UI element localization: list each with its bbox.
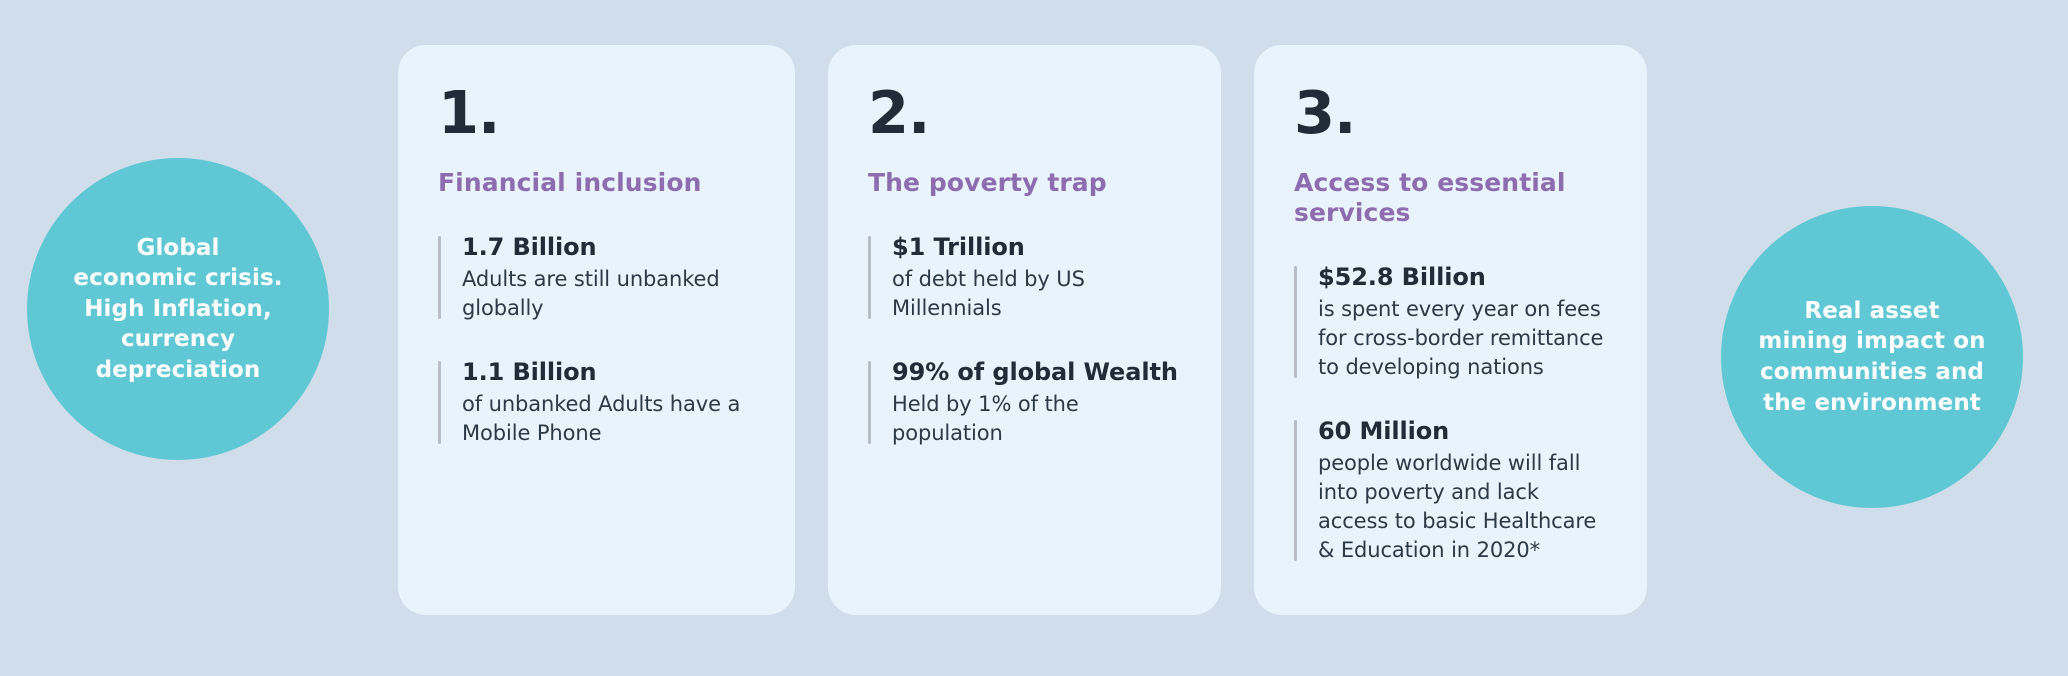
stat-description: of unbanked Adults have a Mobile Phone <box>462 390 755 448</box>
stat-value: 1.7 Billion <box>462 232 755 263</box>
stat-value: 99% of global Wealth <box>892 357 1181 388</box>
card-stats-list: 1.7 Billion Adults are still unbanked gl… <box>438 232 755 448</box>
stat-accent-rule <box>868 361 871 444</box>
left-problem-circle-text: Global economic crisis. High Inflation, … <box>53 233 303 386</box>
stat-accent-rule <box>868 236 871 319</box>
stat-description: of debt held by US Millennials <box>892 265 1181 323</box>
card-poverty-trap[interactable]: 2. The poverty trap $1 Trillion of debt … <box>828 45 1221 615</box>
card-financial-inclusion[interactable]: 1. Financial inclusion 1.7 Billion Adult… <box>398 45 795 615</box>
cards-row: 1. Financial inclusion 1.7 Billion Adult… <box>398 45 1647 615</box>
stat-description: is spent every year on fees for cross-bo… <box>1318 295 1607 382</box>
card-stats-list: $52.8 Billion is spent every year on fee… <box>1294 262 1607 565</box>
right-impact-circle: Real asset mining impact on communities … <box>1721 206 2023 508</box>
card-access-to-essential-services[interactable]: 3. Access to essential services $52.8 Bi… <box>1254 45 1647 615</box>
stat-accent-rule <box>438 361 441 444</box>
stat-item: 1.1 Billion of unbanked Adults have a Mo… <box>438 357 755 448</box>
card-heading: Financial inclusion <box>438 168 755 198</box>
stat-value: $1 Trillion <box>892 232 1181 263</box>
stat-value: 60 Million <box>1318 416 1607 447</box>
stat-accent-rule <box>1294 266 1297 378</box>
stat-item: $52.8 Billion is spent every year on fee… <box>1294 262 1607 382</box>
stat-item: 60 Million people worldwide will fall in… <box>1294 416 1607 565</box>
card-heading: The poverty trap <box>868 168 1181 198</box>
card-number: 1. <box>438 83 755 142</box>
card-number: 2. <box>868 83 1181 142</box>
stat-accent-rule <box>438 236 441 319</box>
card-number: 3. <box>1294 83 1607 142</box>
stat-value: 1.1 Billion <box>462 357 755 388</box>
stat-value: $52.8 Billion <box>1318 262 1607 293</box>
stat-description: Adults are still unbanked globally <box>462 265 755 323</box>
stat-description: Held by 1% of the population <box>892 390 1181 448</box>
stat-item: 99% of global Wealth Held by 1% of the p… <box>868 357 1181 448</box>
stat-description: people worldwide will fall into poverty … <box>1318 449 1607 565</box>
left-problem-circle: Global economic crisis. High Inflation, … <box>27 158 329 460</box>
card-stats-list: $1 Trillion of debt held by US Millennia… <box>868 232 1181 448</box>
right-impact-circle-text: Real asset mining impact on communities … <box>1738 296 2006 418</box>
infographic-canvas: Global economic crisis. High Inflation, … <box>0 0 2068 676</box>
stat-accent-rule <box>1294 420 1297 561</box>
stat-item: $1 Trillion of debt held by US Millennia… <box>868 232 1181 323</box>
card-heading: Access to essential services <box>1294 168 1607 228</box>
stat-item: 1.7 Billion Adults are still unbanked gl… <box>438 232 755 323</box>
